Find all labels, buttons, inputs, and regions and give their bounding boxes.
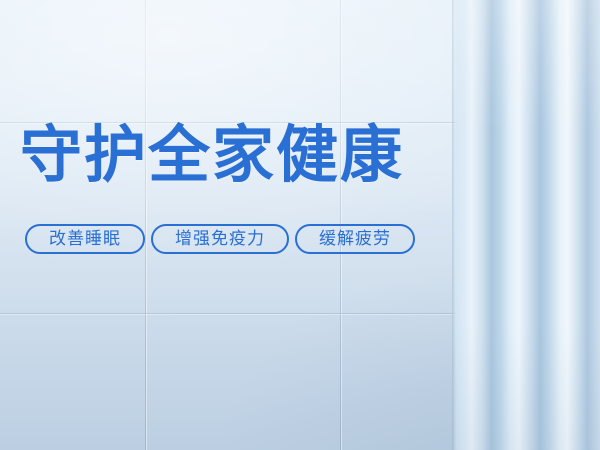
benefit-badge-row: 改善睡眠 增强免疫力 缓解疲劳 (25, 224, 415, 254)
benefit-badge-relieve-fatigue: 缓解疲劳 (295, 224, 415, 254)
promo-poster: 守护全家健康 改善睡眠 增强免疫力 缓解疲劳 (0, 0, 600, 450)
benefit-badge-improve-sleep: 改善睡眠 (25, 224, 145, 254)
glossy-column (452, 0, 600, 450)
benefit-badge-boost-immunity: 增强免疫力 (151, 224, 289, 254)
page-title: 守护全家健康 (20, 122, 404, 190)
column-gloss-overlay (452, 0, 600, 450)
